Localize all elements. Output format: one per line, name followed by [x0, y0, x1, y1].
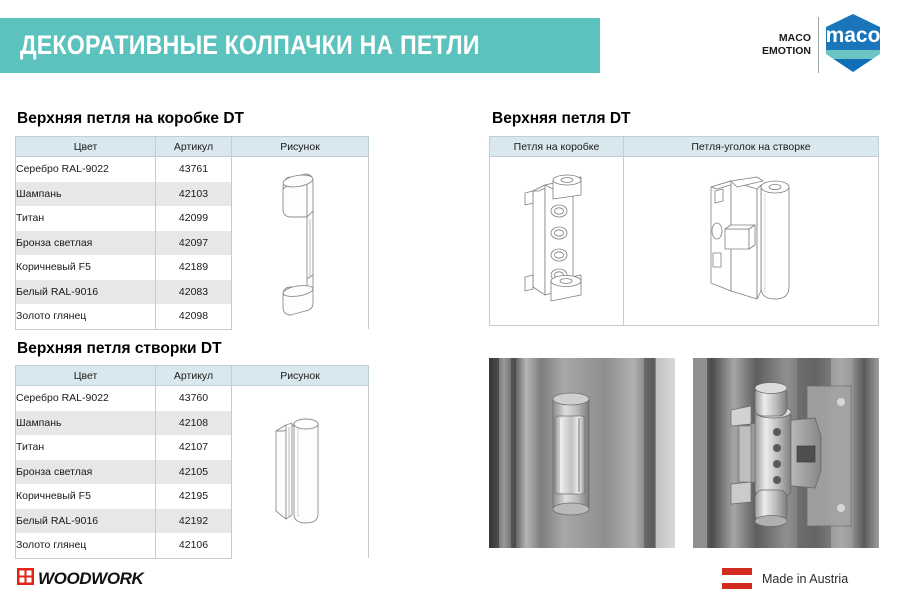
table-header-row: Цвет Артикул Рисунок [16, 137, 369, 157]
cell-article: 42103 [156, 182, 232, 207]
cell-color: Бронза светлая [16, 460, 156, 485]
cell-drawing [232, 157, 369, 330]
sash-hinge-table: Цвет Артикул Рисунок Серебро RAL-9022 43… [15, 365, 369, 559]
cell-color: Шампань [16, 182, 156, 207]
column-header-frame-hinge: Петля на коробке [490, 137, 624, 157]
cell-color: Титан [16, 435, 156, 460]
section-title-frame-hinge: Верхняя петля на коробке DT [17, 110, 244, 128]
maco-logo: MACO EMOTION maco [762, 16, 886, 74]
maco-brand-line-1: MACO [762, 32, 811, 45]
cell-color: Титан [16, 206, 156, 231]
logo-divider [818, 17, 819, 73]
cell-color: Белый RAL-9016 [16, 280, 156, 305]
frame-hinge-technical-drawing [511, 169, 603, 311]
table-row [490, 157, 879, 326]
cell-color: Коричневый F5 [16, 484, 156, 509]
maco-logo-text: maco [826, 24, 880, 47]
woodwork-logo: WOODWORK [17, 568, 143, 590]
frame-hinge-table: Цвет Артикул Рисунок Серебро RAL-9022 43… [15, 136, 369, 330]
column-header-article: Артикул [156, 366, 232, 386]
cell-article: 42098 [156, 304, 232, 329]
cell-drawing [232, 386, 369, 559]
cell-article: 42192 [156, 509, 232, 534]
hinge-cap-frame-drawing [269, 167, 331, 317]
cell-article: 42099 [156, 206, 232, 231]
made-in-austria-block: Made in Austria [722, 568, 848, 589]
cell-color: Коричневый F5 [16, 255, 156, 280]
column-header-picture: Рисунок [232, 137, 369, 157]
cell-frame-hinge-drawing [490, 157, 624, 326]
cell-article: 42097 [156, 231, 232, 256]
cell-article: 42105 [156, 460, 232, 485]
cell-article: 43760 [156, 386, 232, 411]
austria-flag-icon [722, 568, 752, 589]
cell-color: Белый RAL-9016 [16, 509, 156, 534]
cell-article: 43761 [156, 157, 232, 182]
maco-wordmark-text: MACO EMOTION [762, 32, 818, 58]
cell-color: Золото глянец [16, 304, 156, 329]
column-header-color: Цвет [16, 366, 156, 386]
cell-sash-corner-hinge-drawing [624, 157, 879, 326]
table-header-row: Цвет Артикул Рисунок [16, 366, 369, 386]
cell-color: Золото глянец [16, 533, 156, 558]
cell-article: 42106 [156, 533, 232, 558]
table-row: Серебро RAL-9022 43761 [16, 157, 369, 182]
cell-color: Серебро RAL-9022 [16, 386, 156, 411]
cell-article: 42189 [156, 255, 232, 280]
maco-hexagon-icon: maco [826, 14, 880, 77]
column-header-sash-corner-hinge: Петля-уголок на створке [624, 137, 879, 157]
table-header-row: Петля на коробке Петля-уголок на створке [490, 137, 879, 157]
maco-brand-line-2: EMOTION [762, 45, 811, 58]
window-grid-icon [17, 568, 34, 590]
cell-article: 42083 [156, 280, 232, 305]
upper-hinge-drawings-table: Петля на коробке Петля-уголок на створке [489, 136, 879, 326]
sash-corner-hinge-technical-drawing [701, 169, 801, 311]
cell-article: 42195 [156, 484, 232, 509]
column-header-color: Цвет [16, 137, 156, 157]
column-header-picture: Рисунок [232, 366, 369, 386]
made-in-austria-label: Made in Austria [762, 572, 848, 586]
closed-hinge-photo [489, 358, 675, 548]
hinge-cap-sash-drawing [264, 411, 336, 531]
cell-article: 42108 [156, 411, 232, 436]
cell-article: 42107 [156, 435, 232, 460]
page-title: ДЕКОРАТИВНЫЕ КОЛПАЧКИ НА ПЕТЛИ [20, 30, 502, 61]
section-title-sash-hinge: Верхняя петля створки DT [17, 340, 222, 358]
cell-color: Шампань [16, 411, 156, 436]
cell-color: Серебро RAL-9022 [16, 157, 156, 182]
table-row: Серебро RAL-9022 43760 [16, 386, 369, 411]
cell-color: Бронза светлая [16, 231, 156, 256]
column-header-article: Артикул [156, 137, 232, 157]
woodwork-brand-text: WOODWORK [38, 569, 143, 589]
open-hinge-photo [693, 358, 879, 548]
section-title-upper-hinge: Верхняя петля DT [492, 110, 630, 128]
